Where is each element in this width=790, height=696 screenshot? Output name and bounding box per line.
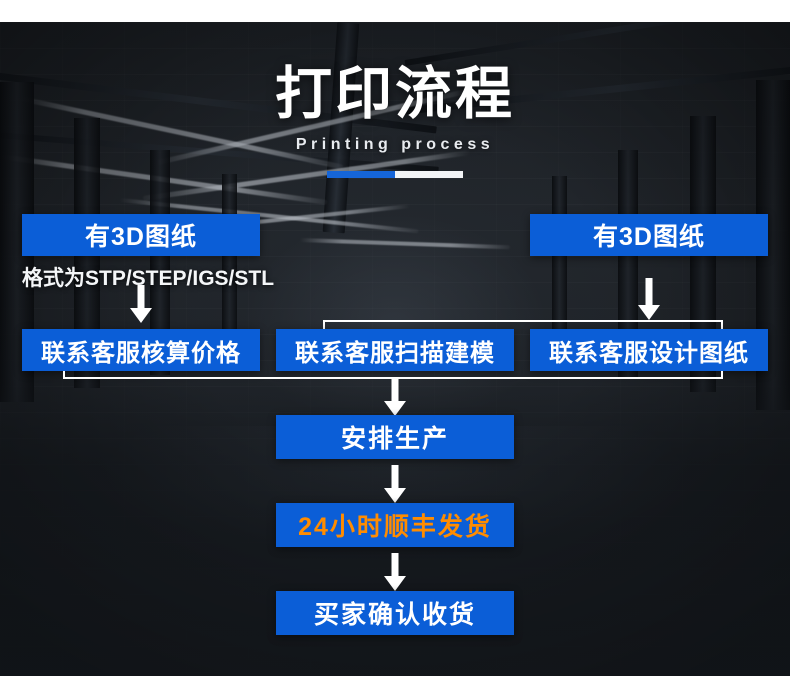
top-white-band <box>0 0 790 22</box>
flow-node-contact-scan-model[interactable]: 联系客服扫描建模 <box>276 329 514 371</box>
arrow-to-buyer-confirm <box>377 553 413 591</box>
flow-node-24h-sf-shipping[interactable]: 24小时顺丰发货 <box>276 503 514 547</box>
bracket-top-horizontal <box>323 320 723 322</box>
bottom-white-band <box>0 676 790 696</box>
flow-node-contact-design-drawing[interactable]: 联系客服设计图纸 <box>530 329 768 371</box>
arrow-left-column-down <box>123 285 159 323</box>
flow-node-has-3d-drawing-left[interactable]: 有3D图纸 <box>22 214 260 256</box>
flow-node-has-3d-drawing-right[interactable]: 有3D图纸 <box>530 214 768 256</box>
flow-node-arrange-production[interactable]: 安排生产 <box>276 415 514 459</box>
printing-process-poster: 打印流程 Printing process 有3D图纸 格式为STP/STEP/… <box>0 0 790 696</box>
arrow-to-production <box>377 379 413 416</box>
arrow-right-column-down <box>631 278 667 320</box>
arrow-to-shipping <box>377 465 413 503</box>
flow-node-buyer-confirm-receipt[interactable]: 买家确认收货 <box>276 591 514 635</box>
flow-node-contact-price[interactable]: 联系客服核算价格 <box>22 329 260 371</box>
flow-chart: 有3D图纸 格式为STP/STEP/IGS/STL 有3D图纸 联系客服核算价格… <box>0 0 790 696</box>
